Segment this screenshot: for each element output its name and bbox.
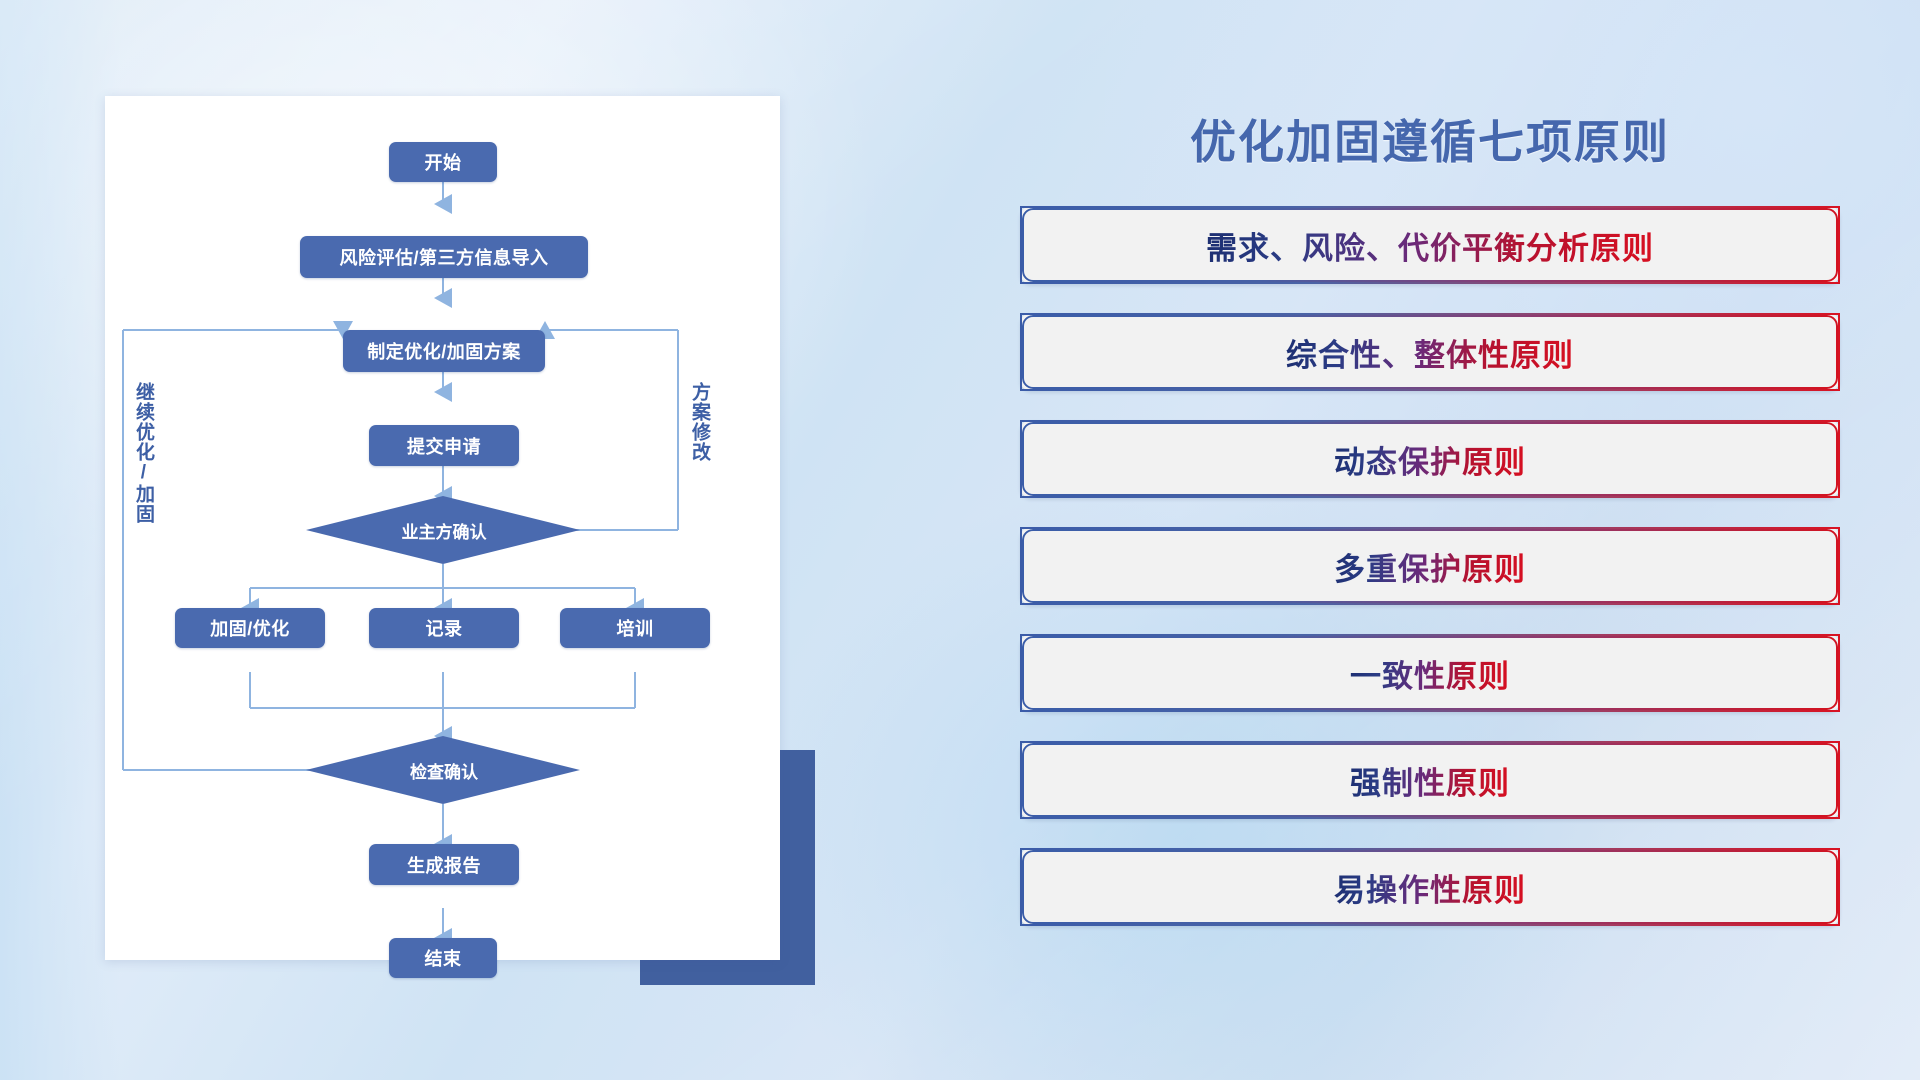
principle-label: 易操作性原则 [1334,865,1526,910]
flow-node-label: 培训 [617,615,654,641]
flow-node-reinforce-optimize[interactable]: 加固/优化 [175,608,325,648]
flow-node-label: 结束 [425,945,462,971]
principle-label: 综合性、整体性原则 [1286,330,1574,375]
flow-node-label: 开始 [425,149,462,175]
flow-node-submit-application[interactable]: 提交申请 [369,425,519,466]
flow-node-start[interactable]: 开始 [389,142,497,182]
principle-label: 一致性原则 [1350,651,1510,696]
edge-label-continue-optimize: 继续优化/加固 [133,382,153,524]
flow-node-label: 制定优化/加固方案 [367,338,521,364]
principle-card-5[interactable]: 一致性原则 [1020,634,1840,712]
flow-node-training[interactable]: 培训 [560,608,710,648]
principles-panel: 优化加固遵循七项原则 需求、风险、代价平衡分析原则 综合性、整体性原则 动态保护… [1020,96,1840,1006]
page-title: 优化加固遵循七项原则 [1020,106,1840,172]
principle-label: 动态保护原则 [1334,437,1526,482]
principle-label: 需求、风险、代价平衡分析原则 [1206,223,1654,268]
flow-node-generate-report[interactable]: 生成报告 [369,844,519,885]
flow-node-record[interactable]: 记录 [369,608,519,648]
flow-node-end[interactable]: 结束 [389,938,497,978]
principle-card-7[interactable]: 易操作性原则 [1020,848,1840,926]
principle-card-3[interactable]: 动态保护原则 [1020,420,1840,498]
decision-check-confirm-label: 检查确认 [343,756,545,784]
flow-node-label: 生成报告 [407,852,481,878]
principle-card-6[interactable]: 强制性原则 [1020,741,1840,819]
decision-owner-confirm-label: 业主方确认 [343,516,545,544]
flow-node-label: 记录 [426,615,463,641]
flow-node-label: 提交申请 [407,433,481,459]
flow-node-risk-assessment[interactable]: 风险评估/第三方信息导入 [300,236,588,278]
principle-card-2[interactable]: 综合性、整体性原则 [1020,313,1840,391]
principle-card-1[interactable]: 需求、风险、代价平衡分析原则 [1020,206,1840,284]
flow-node-plan[interactable]: 制定优化/加固方案 [343,330,545,372]
flowchart-card: 开始 风险评估/第三方信息导入 制定优化/加固方案 提交申请 业主方确认 加固/… [105,96,780,960]
principle-label: 多重保护原则 [1334,544,1526,589]
flow-node-label: 风险评估/第三方信息导入 [340,244,549,270]
flowchart: 开始 风险评估/第三方信息导入 制定优化/加固方案 提交申请 业主方确认 加固/… [105,96,780,960]
flow-node-label: 加固/优化 [210,615,290,641]
edge-label-plan-revision: 方案修改 [689,382,709,462]
principle-label: 强制性原则 [1350,758,1510,803]
principle-card-4[interactable]: 多重保护原则 [1020,527,1840,605]
